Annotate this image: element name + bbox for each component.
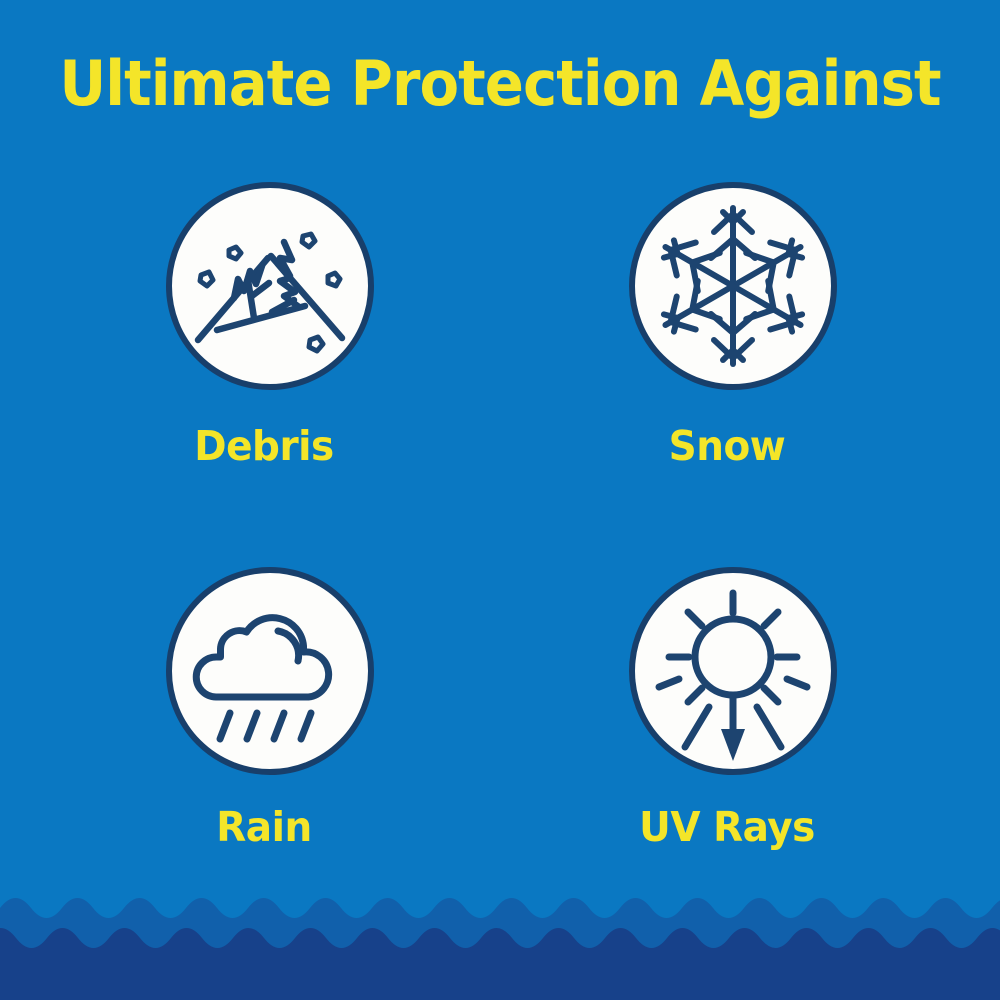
feature-label-rain: Rain (31, 803, 497, 851)
icon-disc (629, 182, 837, 390)
feature-label-snow: Snow (494, 422, 960, 470)
feature-grid: Debris (0, 170, 1000, 900)
page-title: Ultimate Protection Against (35, 48, 965, 120)
icon-disc (166, 182, 374, 390)
feature-label-uv-rays: UV Rays (494, 803, 960, 851)
rain-cloud-icon (172, 573, 368, 769)
feature-item-debris: Debris (19, 170, 519, 535)
feature-item-rain: Rain (19, 555, 519, 920)
infographic-canvas: Ultimate Protection Against (0, 0, 1000, 1000)
feature-item-snow: Snow (482, 170, 982, 535)
icon-disc (629, 567, 837, 775)
snowflake-icon (635, 188, 831, 384)
arrow-head (721, 729, 745, 761)
wave-svg (0, 880, 1000, 1000)
feature-label-debris: Debris (31, 422, 497, 470)
icon-disc (166, 567, 374, 775)
debris-branches-icon (172, 188, 368, 384)
feature-item-uv-rays: UV Rays (482, 555, 982, 920)
wave-pattern (0, 880, 1000, 1000)
sun-uv-rays-icon (635, 573, 831, 769)
